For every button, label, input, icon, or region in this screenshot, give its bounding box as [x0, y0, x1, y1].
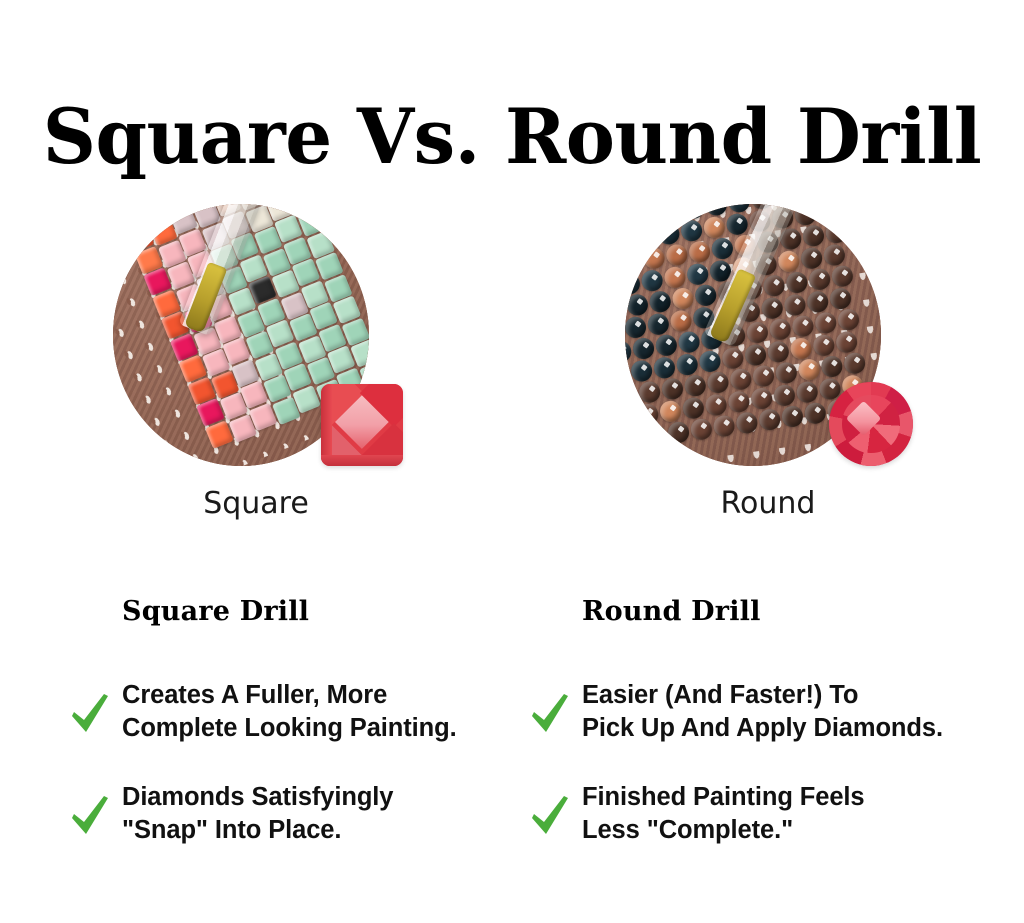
- round-bead: [757, 408, 781, 432]
- round-bead: [625, 206, 637, 230]
- list-item: Creates A Fuller, More Complete Looking …: [62, 679, 522, 751]
- round-bead: [640, 269, 664, 293]
- round-photo-stack: [625, 196, 925, 486]
- check-icon: [530, 693, 570, 735]
- round-bead: [725, 213, 749, 237]
- round-bead: [625, 316, 647, 340]
- round-bead: [625, 363, 630, 387]
- round-bead: [813, 311, 837, 335]
- round-bead: [803, 402, 827, 426]
- round-drill-gem: [829, 382, 913, 466]
- round-bead: [664, 243, 688, 267]
- round-bead: [669, 309, 693, 333]
- round-bead: [805, 290, 829, 314]
- round-bead: [836, 308, 860, 332]
- round-bead: [783, 293, 807, 317]
- check-icon: [70, 693, 110, 735]
- round-drill-column: Round Drill Easier (And Faster!) To Pick…: [522, 596, 982, 883]
- round-bead: [658, 400, 682, 424]
- round-bead: [789, 337, 813, 361]
- round-bead: [780, 405, 804, 429]
- round-bead: [822, 243, 846, 267]
- round-bead: [625, 229, 635, 253]
- round-bead: [727, 204, 751, 214]
- round-bead: [710, 237, 734, 261]
- round-bead: [812, 334, 836, 358]
- round-bead: [675, 353, 699, 377]
- round-bead: [816, 204, 840, 224]
- round-drill-heading: Round Drill: [582, 596, 982, 627]
- round-bead: [625, 340, 632, 364]
- list-item: Easier (And Faster!) To Pick Up And Appl…: [522, 679, 982, 751]
- round-bead: [625, 272, 641, 296]
- round-bead: [793, 204, 817, 227]
- round-bead: [712, 415, 736, 439]
- round-bead: [842, 352, 866, 376]
- round-bead: [625, 406, 636, 430]
- round-bead: [643, 424, 667, 448]
- round-bead: [679, 219, 703, 243]
- round-bead: [720, 347, 744, 371]
- list-item-text: Easier (And Faster!) To Pick Up And Appl…: [582, 679, 982, 745]
- round-bead: [681, 204, 705, 220]
- round-bead: [766, 340, 790, 364]
- check-icon: [530, 795, 570, 837]
- round-bead: [772, 384, 796, 408]
- round-bead: [797, 358, 821, 382]
- check-icon: [70, 795, 110, 837]
- round-bead: [702, 216, 726, 240]
- gem-edge-facet: [321, 384, 332, 466]
- round-gem-inset: [829, 382, 913, 466]
- round-bead: [660, 377, 684, 401]
- round-bead: [687, 240, 711, 264]
- square-drill-column: Square Drill Creates A Fuller, More Comp…: [62, 596, 522, 883]
- round-bead: [820, 355, 844, 379]
- round-bead: [654, 334, 678, 358]
- square-photo-caption: Square: [0, 486, 512, 521]
- round-photo-caption: Round: [512, 486, 1024, 521]
- list-item-text: Diamonds Satisfyingly "Snap" Into Place.: [122, 781, 522, 847]
- round-bead: [656, 222, 680, 246]
- round-bead: [743, 343, 767, 367]
- round-bead: [646, 313, 670, 337]
- round-bead: [671, 287, 695, 311]
- photo-comparison-row: [0, 196, 1024, 486]
- list-item-text: Finished Painting Feels Less "Complete.": [582, 781, 982, 847]
- benefits-columns: Square Drill Creates A Fuller, More Comp…: [0, 596, 1024, 896]
- round-bead: [791, 315, 815, 339]
- round-bead: [784, 271, 808, 295]
- infographic-page: Square Vs. Round Drill: [0, 0, 1024, 923]
- round-bead: [824, 221, 848, 245]
- round-bead: [648, 290, 672, 314]
- round-bead: [704, 204, 728, 217]
- round-bead: [663, 266, 687, 290]
- round-bead: [693, 284, 717, 308]
- square-drill-gem: [321, 384, 403, 466]
- round-bead: [751, 365, 775, 389]
- round-bead: [625, 384, 638, 408]
- round-bead: [830, 265, 854, 289]
- round-bead: [735, 411, 759, 435]
- round-bead: [631, 337, 655, 361]
- round-bead: [807, 268, 831, 292]
- round-photo-cell: [512, 196, 1024, 486]
- round-bead: [683, 374, 707, 398]
- round-bead: [795, 381, 819, 405]
- gem-edge-facet: [321, 455, 403, 466]
- round-bead: [636, 204, 660, 227]
- round-bead: [698, 350, 722, 374]
- round-bead: [625, 427, 644, 451]
- round-bead: [677, 331, 701, 355]
- round-bead: [706, 371, 730, 395]
- list-item: Diamonds Satisfyingly "Snap" Into Place.: [62, 781, 522, 853]
- round-bead: [799, 247, 823, 271]
- round-bead: [762, 274, 786, 298]
- round-bead: [768, 318, 792, 342]
- round-bead: [728, 368, 752, 392]
- square-drill-heading: Square Drill: [122, 596, 522, 627]
- page-title: Square Vs. Round Drill: [15, 99, 1008, 175]
- round-bead: [625, 293, 649, 317]
- round-bead: [760, 297, 784, 321]
- list-item-text: Creates A Fuller, More Complete Looking …: [122, 679, 522, 745]
- round-bead: [834, 331, 858, 355]
- list-item: Finished Painting Feels Less "Complete.": [522, 781, 982, 853]
- round-bead: [634, 226, 658, 250]
- round-bead: [727, 390, 751, 414]
- round-bead: [666, 421, 690, 445]
- round-bead: [749, 387, 773, 411]
- round-bead: [704, 393, 728, 417]
- round-bead: [685, 263, 709, 287]
- round-bead: [642, 247, 666, 271]
- square-photo-stack: [113, 196, 413, 486]
- round-bead: [625, 297, 626, 321]
- round-bead: [658, 204, 682, 224]
- round-bead: [774, 361, 798, 385]
- round-bead: [828, 287, 852, 311]
- round-bead: [629, 359, 653, 383]
- round-bead: [681, 397, 705, 421]
- round-bead: [689, 418, 713, 442]
- round-bead: [745, 321, 769, 345]
- square-gem-inset: [321, 384, 403, 466]
- round-bead: [637, 381, 661, 405]
- round-bead: [635, 403, 659, 427]
- round-bead: [801, 224, 825, 248]
- round-bead: [625, 250, 643, 274]
- round-bead: [776, 250, 800, 274]
- square-photo-cell: [0, 196, 512, 486]
- round-bead: [652, 356, 676, 380]
